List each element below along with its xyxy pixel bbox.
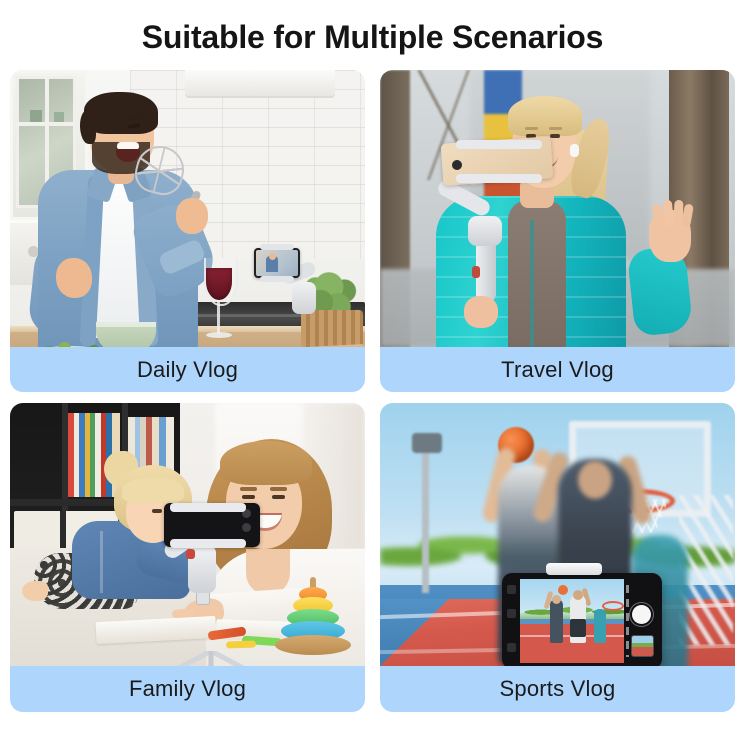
child-fringe [122, 477, 184, 503]
child-eye [152, 509, 162, 513]
floodlight-head [412, 433, 442, 453]
floodlight-pole [422, 443, 429, 593]
mother-fringe [220, 441, 312, 485]
mother-eye-right [272, 495, 285, 499]
screen-basketball-icon [558, 585, 568, 595]
gimbal-motor [468, 216, 502, 246]
photo-daily-vlog [10, 70, 365, 347]
stacking-ring-toy [275, 577, 351, 655]
mother-eyebrow-left [240, 487, 257, 491]
player2-head [578, 461, 612, 499]
promo-banner: Suitable for Multiple Scenarios [0, 0, 745, 745]
screen-player2-head [573, 590, 583, 600]
scenario-card-travel-vlog[interactable]: Travel Vlog [380, 70, 735, 392]
gimbal-motor [292, 282, 316, 314]
phone-clamp-top [546, 563, 602, 575]
street-scene [380, 70, 735, 347]
mother-eyebrow-right [270, 487, 287, 491]
woman-gripping-hand [464, 296, 498, 328]
phone-camera-lens-3 [507, 643, 516, 652]
scenario-card-daily-vlog[interactable]: Daily Vlog [10, 70, 365, 392]
child-bare-foot [22, 581, 48, 601]
man-left-hand [56, 258, 92, 298]
gimbal-trigger [472, 266, 480, 278]
screen-player1-head [552, 595, 561, 604]
man-teeth [117, 142, 139, 149]
man-sideburn [80, 110, 96, 144]
phone-camera-lens-2 [242, 523, 251, 532]
photo-travel-vlog [380, 70, 735, 347]
photo-sports-vlog [380, 403, 735, 666]
basketball-court-scene [380, 403, 735, 666]
scenario-card-sports-vlog[interactable]: Sports Vlog [380, 403, 735, 712]
gimbal-trigger [186, 549, 195, 559]
man-right-hand [176, 198, 208, 234]
card-caption-daily-vlog: Daily Vlog [10, 347, 365, 392]
living-room-scene [10, 403, 365, 666]
range-hood [185, 70, 335, 98]
jacket-zipper [530, 220, 534, 347]
wine-glass-foot [206, 332, 232, 338]
scenario-grid: Daily Vlog [10, 70, 735, 712]
woman-eyebrow-right [549, 127, 562, 130]
toy-wooden-base [275, 635, 351, 655]
mother-eye-left [242, 495, 255, 499]
phone-camera-lens-2 [507, 609, 516, 618]
child-jacket-seam [100, 531, 103, 593]
phone-clamp-bottom [170, 539, 246, 548]
phone-camera-lens-1 [507, 585, 516, 594]
screen-player-1 [550, 599, 563, 643]
woman-eyebrow-left [525, 127, 538, 130]
photo-family-vlog [10, 403, 365, 666]
yellow-marker [226, 640, 256, 648]
card-caption-sports-vlog: Sports Vlog [380, 666, 735, 712]
woman-inner-top [508, 200, 566, 347]
woman-eye-right [550, 134, 560, 138]
gallery-thumbnail[interactable] [631, 635, 654, 657]
kitchen-scene [10, 70, 365, 347]
earbud-icon [570, 144, 579, 157]
phone-clamp-top [456, 140, 542, 149]
wine-glass-stem [217, 302, 220, 334]
shutter-button[interactable] [632, 605, 651, 624]
phone-clamp-bottom [260, 276, 294, 282]
screen-player-3 [594, 609, 606, 643]
card-caption-travel-vlog: Travel Vlog [380, 347, 735, 392]
cabinet-mullion-horizontal [16, 122, 76, 126]
scenario-card-family-vlog[interactable]: Family Vlog [10, 403, 365, 712]
phone-clamp-bottom [456, 174, 542, 183]
woman-hair-top [508, 96, 582, 136]
phone-clamp-top [170, 503, 246, 512]
screen-player2-shorts [570, 619, 586, 637]
page-title: Suitable for Multiple Scenarios [0, 18, 745, 56]
screen-hoop-rim [602, 601, 624, 611]
card-caption-family-vlog: Family Vlog [10, 666, 365, 712]
screen-subject-head [269, 253, 276, 260]
phone-clamp-top [260, 244, 294, 250]
green-mixing-bowl [96, 322, 156, 347]
camera-mode-ticks[interactable] [626, 585, 629, 657]
